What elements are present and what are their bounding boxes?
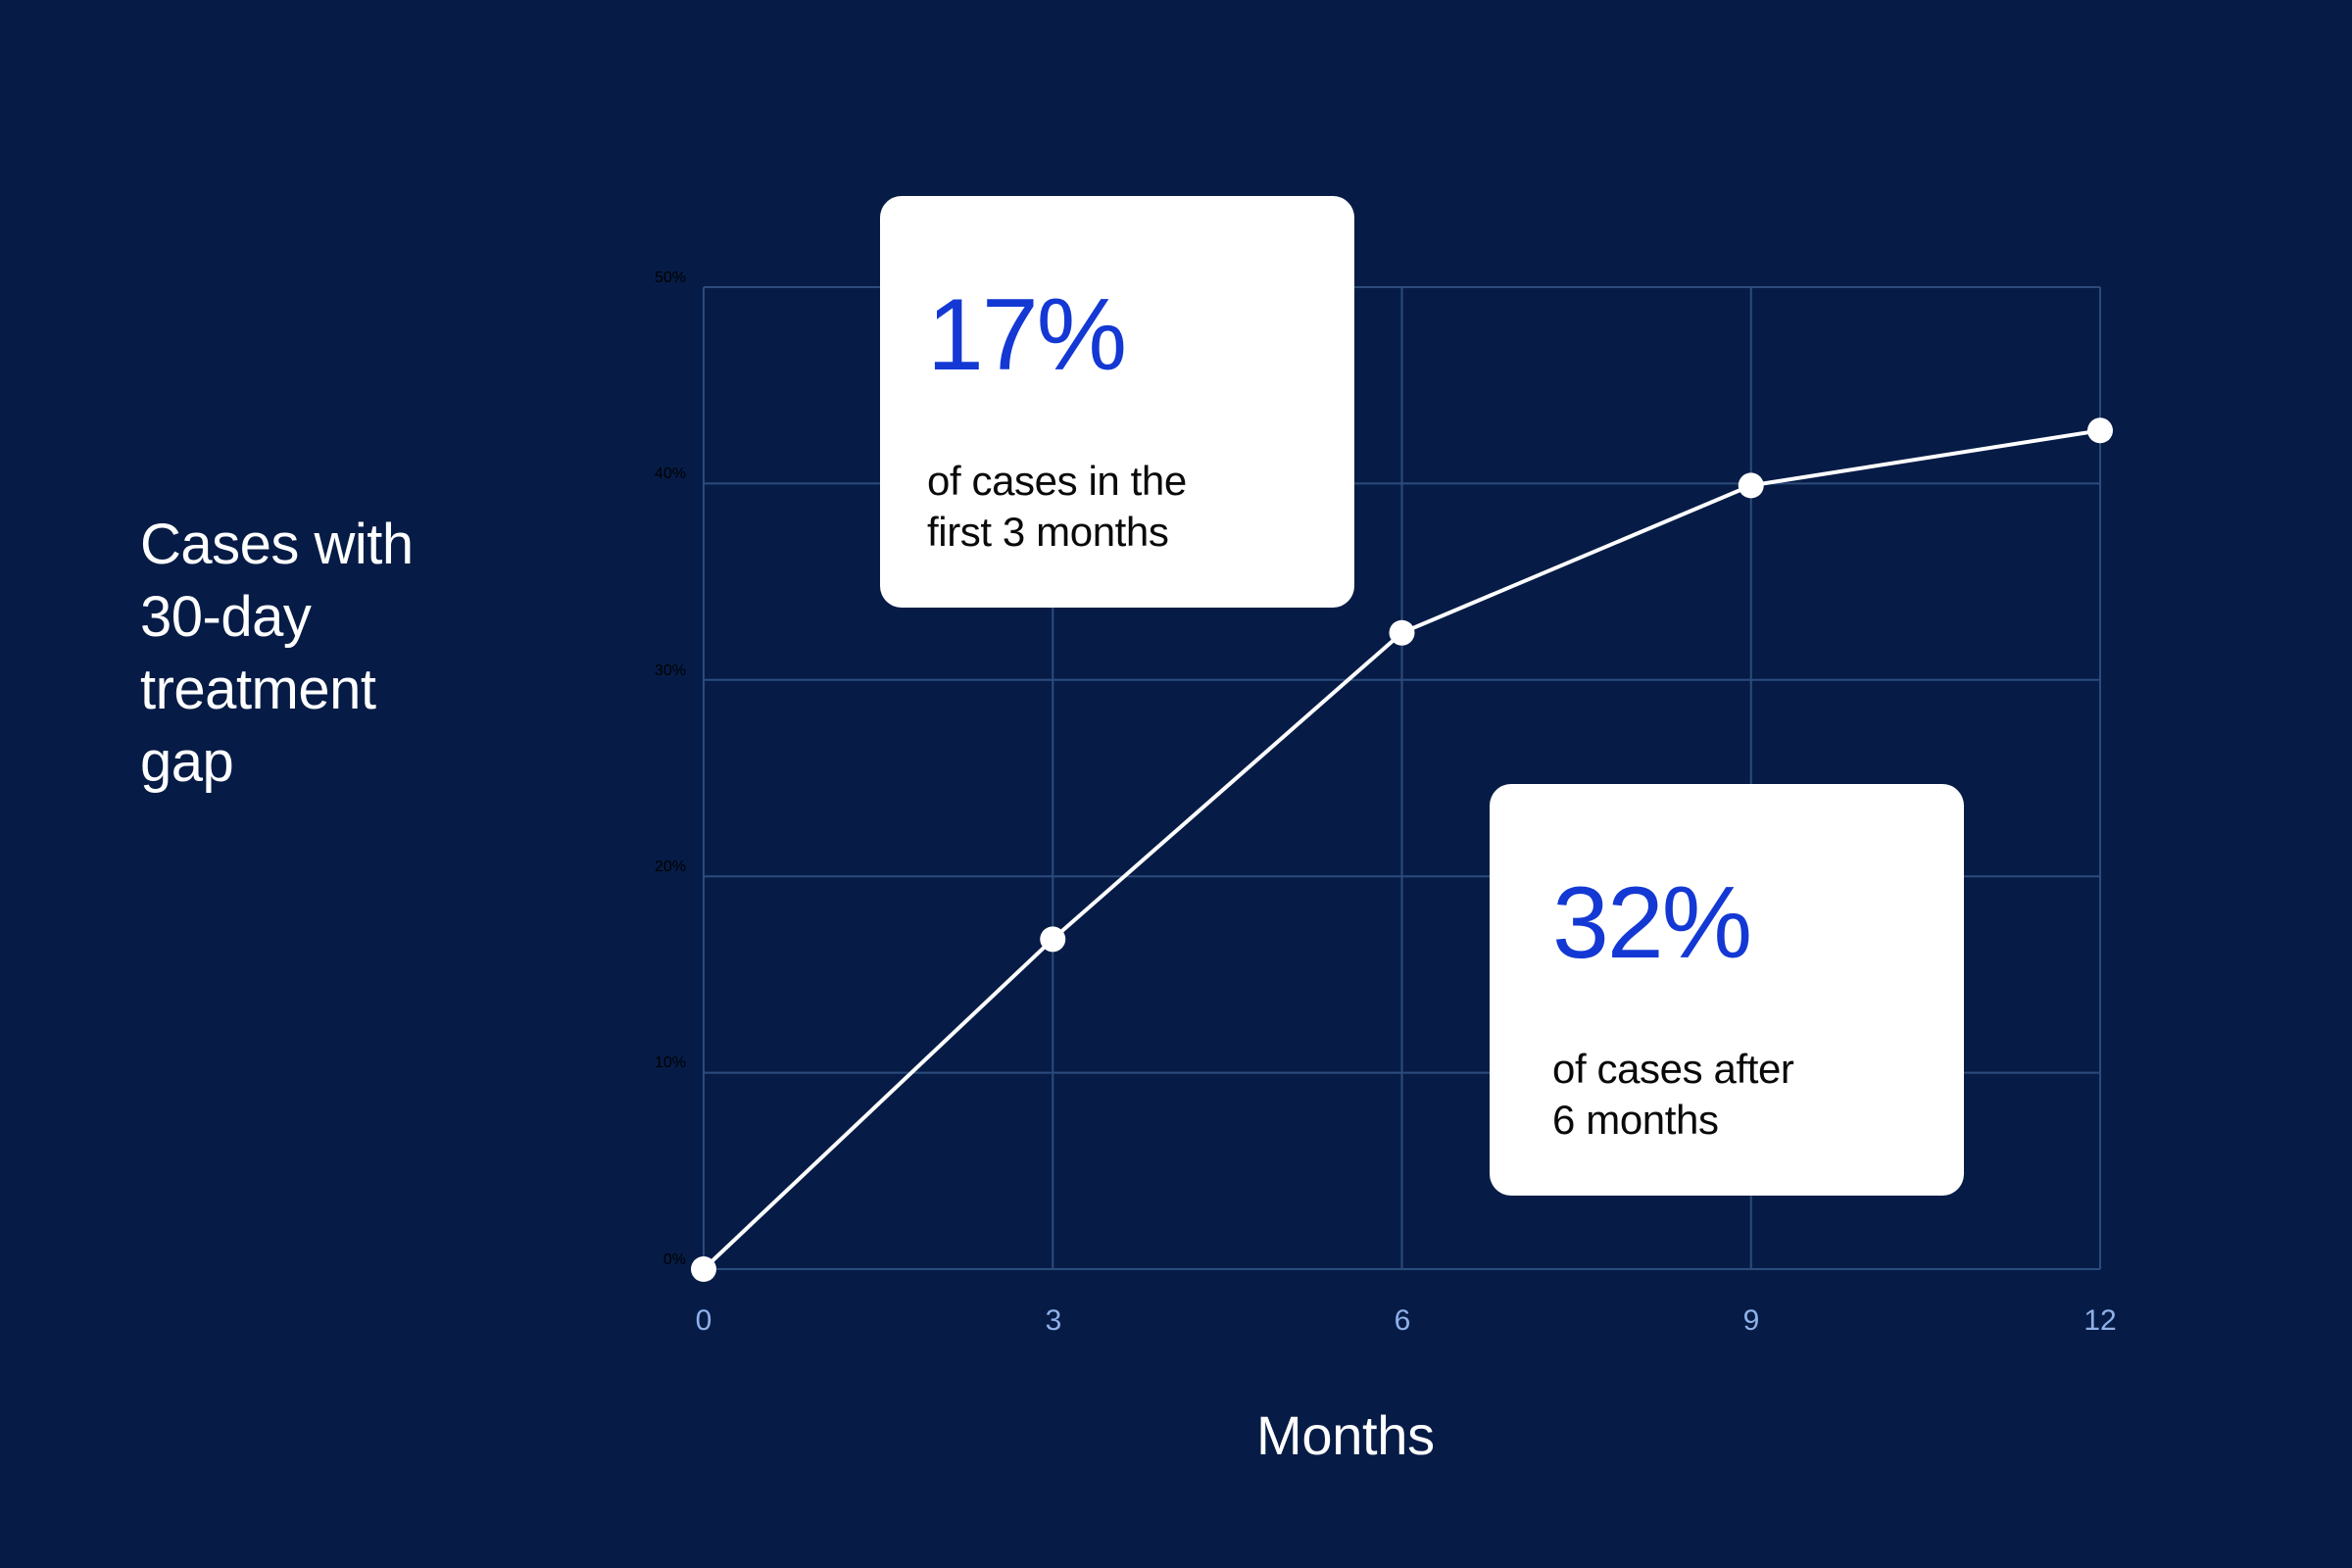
y-tick-30: 30% [578, 662, 686, 680]
y-tick-label: 20% [655, 858, 686, 875]
y-tick-40: 40% [578, 465, 686, 483]
y-tick-10: 10% [578, 1054, 686, 1072]
page-title: Cases with 30-day treatment gap [140, 509, 552, 799]
callout-description: of cases in the first 3 months [927, 456, 1187, 558]
data-point [1040, 926, 1065, 952]
y-tick-label: 40% [655, 465, 686, 482]
x-tick-3: 3 [1014, 1304, 1093, 1338]
chart-canvas: Cases with 30-day treatment gap 50% 40% … [0, 0, 2352, 1568]
y-tick-label: 30% [655, 662, 686, 679]
callout-value: 17% [927, 284, 1125, 386]
y-tick-label: 10% [655, 1054, 686, 1071]
y-tick-0: 0% [578, 1251, 686, 1269]
x-tick-12: 12 [2061, 1304, 2139, 1338]
x-tick-6: 6 [1363, 1304, 1442, 1338]
data-point [691, 1256, 716, 1282]
callout-card-32-percent: 32% of cases after 6 months [1490, 784, 1964, 1196]
x-tick-9: 9 [1712, 1304, 1790, 1338]
callout-value: 32% [1552, 872, 1750, 974]
data-point [2087, 417, 2113, 443]
callout-card-17-percent: 17% of cases in the first 3 months [880, 196, 1354, 608]
x-tick-0: 0 [664, 1304, 743, 1338]
y-tick-label: 0% [663, 1251, 686, 1268]
y-tick-20: 20% [578, 858, 686, 876]
y-tick-50: 50% [578, 269, 686, 287]
callout-description: of cases after 6 months [1552, 1044, 1794, 1146]
data-point [1739, 472, 1764, 498]
y-tick-label: 50% [655, 269, 686, 286]
data-point [1390, 620, 1415, 646]
x-axis-label: Months [1256, 1403, 1435, 1467]
